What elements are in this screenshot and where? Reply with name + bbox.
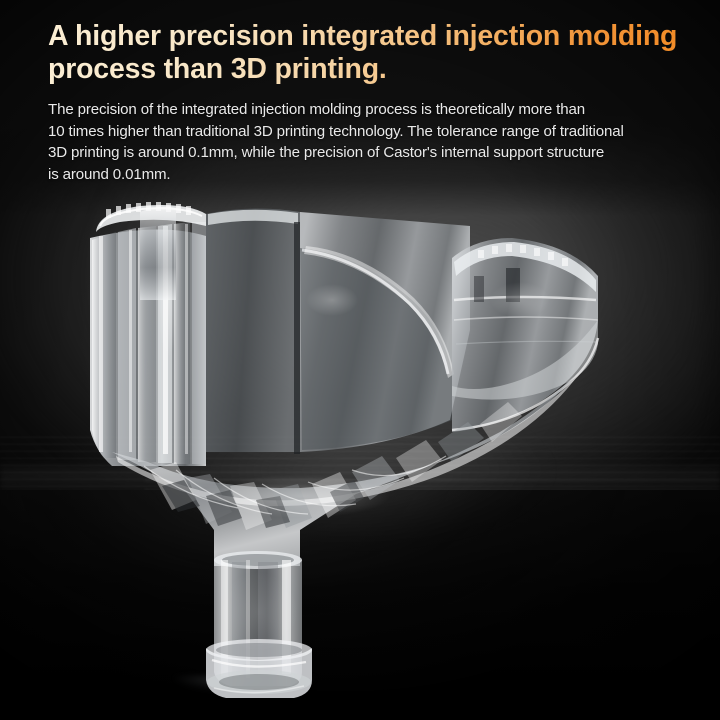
body-paragraph: The precision of the integrated injectio… <box>48 99 712 185</box>
product-floor-reflection <box>150 676 340 720</box>
slide-root: A higher precision integrated injection … <box>0 0 720 720</box>
text-content-block: A higher precision integrated injection … <box>48 20 712 185</box>
product-ambient-glow <box>90 380 610 560</box>
page-title: A higher precision integrated injection … <box>48 20 712 86</box>
